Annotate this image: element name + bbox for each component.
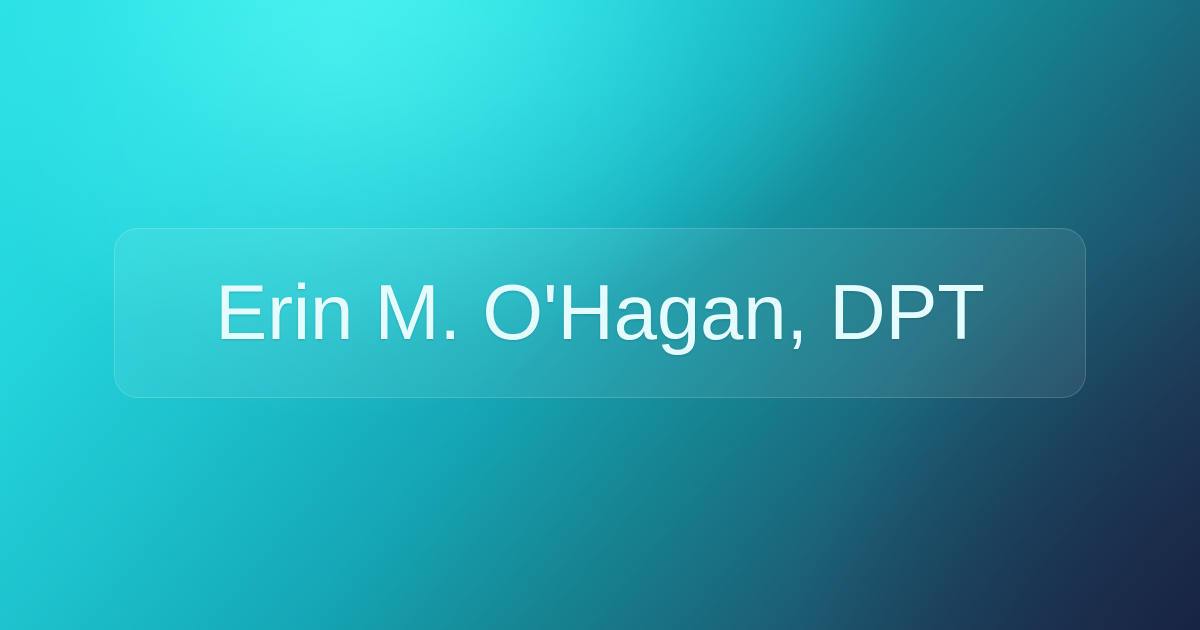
- title-card: Erin M. O'Hagan, DPT: [114, 228, 1086, 398]
- page-title: Erin M. O'Hagan, DPT: [215, 272, 984, 354]
- share-card-canvas: Erin M. O'Hagan, DPT: [0, 0, 1200, 630]
